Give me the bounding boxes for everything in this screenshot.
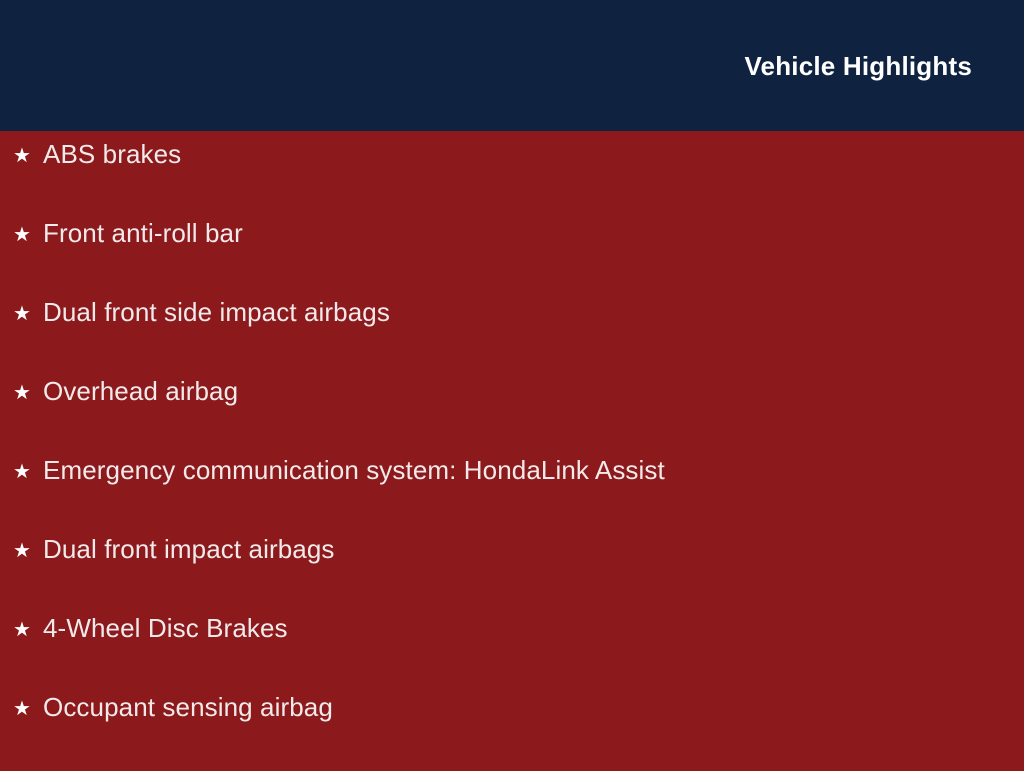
star-icon: ★ bbox=[13, 457, 43, 487]
star-icon: ★ bbox=[13, 536, 43, 566]
list-item-label: Front anti-roll bar bbox=[43, 218, 243, 248]
star-icon: ★ bbox=[13, 378, 43, 408]
list-item-label: Overhead airbag bbox=[43, 376, 238, 406]
list-item: ★ Emergency communication system: HondaL… bbox=[0, 455, 1024, 534]
slide-root: Vehicle Highlights ★ ABS brakes ★ Front … bbox=[0, 0, 1024, 768]
list-item-label: ABS brakes bbox=[43, 139, 181, 169]
list-item: ★ Dual front side impact airbags bbox=[0, 297, 1024, 376]
list-item-label: Emergency communication system: HondaLin… bbox=[43, 455, 665, 485]
list-item: ★ Overhead airbag bbox=[0, 376, 1024, 455]
slide-header: Vehicle Highlights bbox=[0, 0, 1024, 131]
star-icon: ★ bbox=[13, 141, 43, 171]
vehicle-highlights-list: ★ ABS brakes ★ Front anti-roll bar ★ Dua… bbox=[0, 139, 1024, 771]
list-item: ★ Front anti-roll bar bbox=[0, 218, 1024, 297]
star-icon: ★ bbox=[13, 694, 43, 724]
list-item-label: Occupant sensing airbag bbox=[43, 692, 333, 722]
star-icon: ★ bbox=[13, 615, 43, 645]
list-item-label: Dual front impact airbags bbox=[43, 534, 335, 564]
list-item-label: Dual front side impact airbags bbox=[43, 297, 390, 327]
list-item: ★ Occupant sensing airbag bbox=[0, 692, 1024, 771]
slide-body: ★ ABS brakes ★ Front anti-roll bar ★ Dua… bbox=[0, 131, 1024, 768]
star-icon: ★ bbox=[13, 299, 43, 329]
star-icon: ★ bbox=[13, 220, 43, 250]
page-title: Vehicle Highlights bbox=[744, 53, 972, 79]
list-item-label: 4-Wheel Disc Brakes bbox=[43, 613, 288, 643]
list-item: ★ ABS brakes bbox=[0, 139, 1024, 218]
list-item: ★ 4-Wheel Disc Brakes bbox=[0, 613, 1024, 692]
list-item: ★ Dual front impact airbags bbox=[0, 534, 1024, 613]
